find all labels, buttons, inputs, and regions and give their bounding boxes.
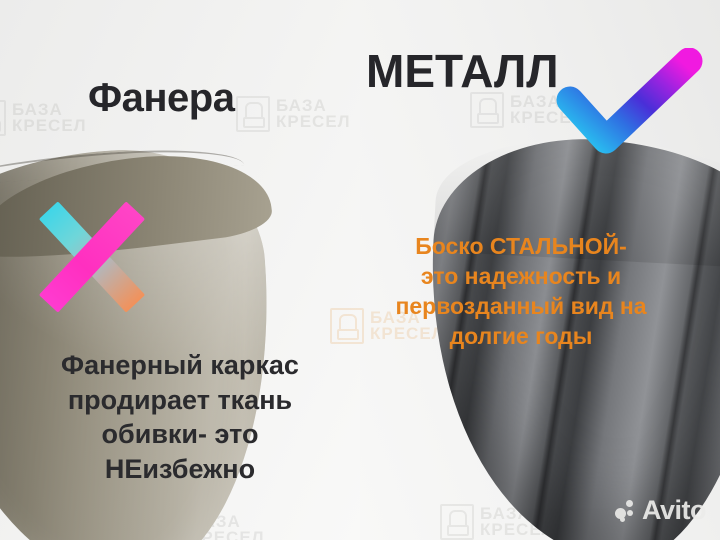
left-panel-body: Фанерный каркас продирает ткань обивки- … <box>18 348 342 486</box>
left-body-line: Фанерный каркас <box>18 348 342 383</box>
check-icon <box>556 48 704 156</box>
right-body-line: это надежность и <box>336 262 706 292</box>
avito-label: Avito <box>642 497 706 524</box>
right-body-line: долгие годы <box>336 322 706 352</box>
x-cross-icon <box>30 198 154 316</box>
comparison-poster: БАЗА КРЕСЕЛ БАЗА КРЕСЕЛ БАЗА КРЕСЕЛ БАЗА… <box>0 0 720 540</box>
right-panel-body: Боско СТАЛЬНОЙ- это надежность и первозд… <box>336 232 706 352</box>
right-panel-heading: МЕТАЛЛ <box>366 44 559 98</box>
left-body-line: продирает ткань <box>18 383 342 418</box>
right-body-line: Боско СТАЛЬНОЙ- <box>336 232 706 262</box>
left-panel-heading: Фанера <box>88 76 234 121</box>
left-body-line: НЕизбежно <box>18 452 342 487</box>
avito-watermark: Avito <box>615 497 706 524</box>
avito-dots-icon <box>615 500 637 522</box>
left-body-line: обивки- это <box>18 417 342 452</box>
right-body-line: первозданный вид на <box>336 292 706 322</box>
